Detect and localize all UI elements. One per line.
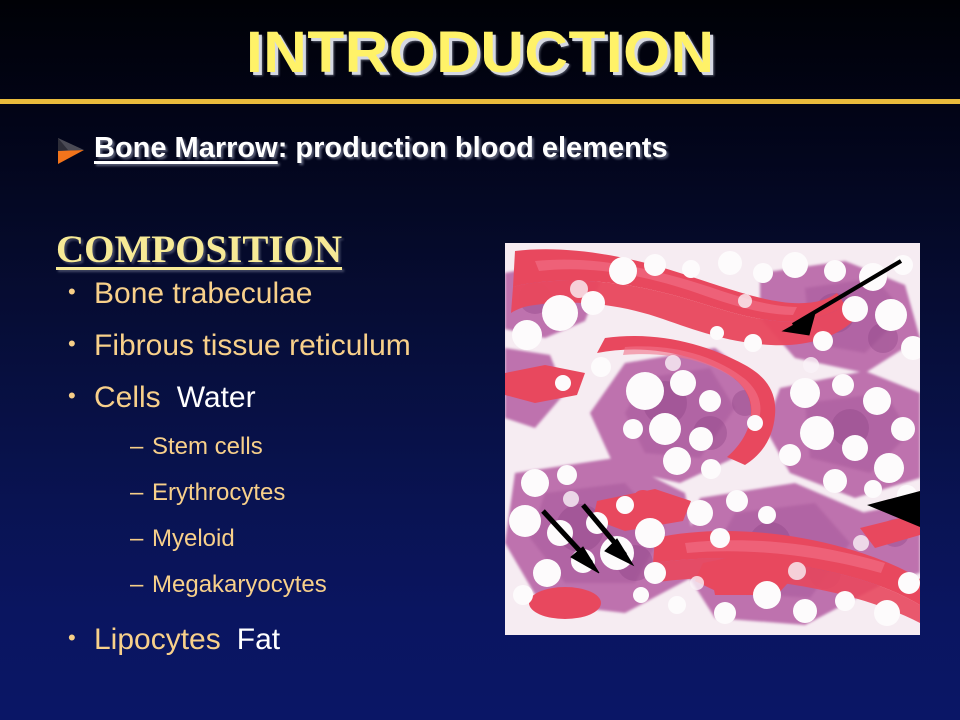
- lead-bullet-line: Bone Marrow: production blood elements: [56, 129, 668, 167]
- list-item: – Megakaryocytes: [130, 571, 510, 617]
- slide-canvas: INTRODUCTION Bone Marrow: production blo…: [0, 0, 960, 720]
- bone-marrow-histology-micrograph: [505, 243, 920, 635]
- list-item: • Bone trabeculae: [68, 277, 510, 329]
- bullet-marker-icon: •: [68, 333, 94, 355]
- dash-marker-icon: –: [130, 573, 152, 597]
- list-item: – Erythrocytes: [130, 479, 510, 525]
- list-item: – Stem cells: [130, 433, 510, 479]
- composition-heading: COMPOSITION: [56, 228, 342, 272]
- list-item-label: Megakaryocytes: [152, 571, 327, 599]
- bullet-marker-icon: •: [68, 281, 94, 303]
- list-item-label: Cells: [94, 381, 161, 415]
- title-divider-rule: [0, 99, 960, 104]
- lead-bullet-text: Bone Marrow: production blood elements: [94, 129, 668, 167]
- list-item-label: Lipocytes: [94, 623, 221, 657]
- lead-description: production blood elements: [287, 132, 667, 164]
- list-item-label: Myeloid: [152, 525, 235, 553]
- lead-separator: :: [278, 132, 288, 164]
- bullet-marker-icon: •: [68, 627, 94, 649]
- chevron-arrow-marker-icon: [56, 134, 86, 168]
- list-item: – Myeloid: [130, 525, 510, 571]
- composition-bullet-list: • Bone trabeculae • Fibrous tissue retic…: [60, 277, 510, 675]
- list-item-label: Erythrocytes: [152, 479, 285, 507]
- list-item-label: Stem cells: [152, 433, 263, 461]
- list-item: • Fibrous tissue reticulum: [68, 329, 510, 381]
- list-item: • Cells Water: [68, 381, 510, 433]
- list-item: • Lipocytes Fat: [68, 623, 510, 675]
- dash-marker-icon: –: [130, 527, 152, 551]
- bullet-marker-icon: •: [68, 385, 94, 407]
- dash-marker-icon: –: [130, 481, 152, 505]
- page-title: INTRODUCTION: [246, 22, 715, 84]
- annotation-fat: Fat: [237, 623, 280, 657]
- title-block: INTRODUCTION: [0, 22, 960, 84]
- list-item-label: Fibrous tissue reticulum: [94, 329, 411, 363]
- dash-marker-icon: –: [130, 435, 152, 459]
- list-item-label: Bone trabeculae: [94, 277, 313, 311]
- annotation-water: Water: [177, 381, 256, 415]
- lead-term: Bone Marrow: [94, 132, 278, 164]
